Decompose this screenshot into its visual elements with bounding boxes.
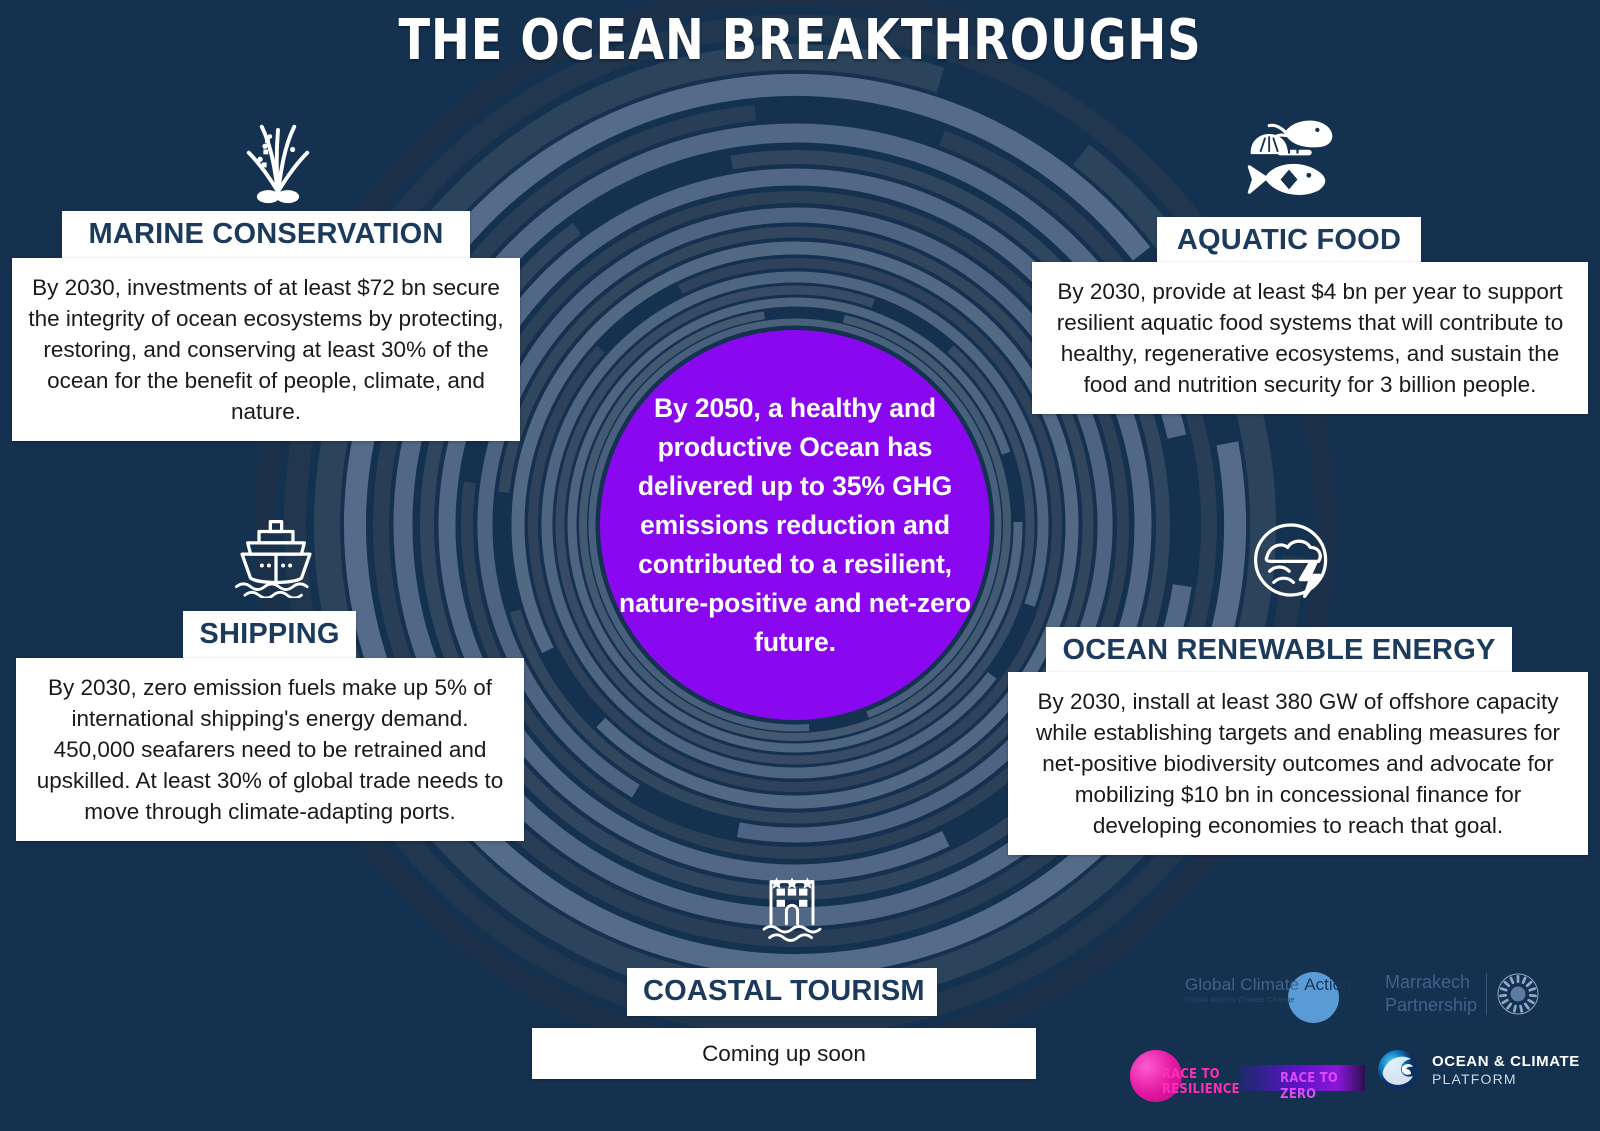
- section-body-aquatic-food: By 2030, provide at least $4 bn per year…: [1032, 262, 1588, 414]
- partner-logos: Global Climate Action Global Actions Cli…: [1130, 965, 1590, 1125]
- logo-marrakech-partnership: Marrakech Partnership: [1385, 971, 1540, 1017]
- center-vision-circle: By 2050, a healthy and productive Ocean …: [600, 330, 990, 720]
- wave-lightning-icon: [1250, 518, 1334, 602]
- r2z-text: RACE TO ZERO: [1280, 1070, 1363, 1102]
- center-vision-text: By 2050, a healthy and productive Ocean …: [615, 389, 975, 662]
- logo-ocean-climate-platform: OCEAN & CLIMATE PLATFORM: [1375, 1047, 1580, 1093]
- section-body-ocean-renewable-energy: By 2030, install at least 380 GW of offs…: [1008, 672, 1588, 855]
- section-label-ocean-renewable-energy: OCEAN RENEWABLE ENERGY: [1046, 627, 1512, 675]
- section-label-aquatic-food: AQUATIC FOOD: [1157, 217, 1421, 265]
- mp-divider: [1486, 973, 1487, 1015]
- ocp-line1: OCEAN & CLIMATE: [1432, 1053, 1580, 1071]
- section-body-shipping: By 2030, zero emission fuels make up 5% …: [16, 658, 524, 841]
- section-label-marine-conservation: MARINE CONSERVATION: [62, 211, 470, 259]
- ocp-line2: PLATFORM: [1432, 1071, 1580, 1088]
- r2r-line2: RESILIENCE: [1162, 1082, 1240, 1097]
- gca-text-main: Global Climate: [1185, 975, 1299, 994]
- fish-shrimp-shell-icon: [1238, 110, 1340, 198]
- logo-global-climate-action: Global Climate Action Global Actions Cli…: [1185, 975, 1352, 1005]
- r2r-line1: RACE TO: [1162, 1067, 1240, 1082]
- mp-line2: Partnership: [1385, 994, 1477, 1017]
- unfccc-sunburst-icon: [1496, 972, 1540, 1016]
- hotel-icon: [750, 862, 834, 946]
- ship-icon: [230, 516, 322, 598]
- seaweed-icon: [226, 104, 330, 208]
- wave-globe-icon: [1375, 1047, 1421, 1093]
- gca-text-sub: Global Actions Climate Change: [1185, 995, 1352, 1005]
- section-label-coastal-tourism: COASTAL TOURISM: [627, 968, 937, 1016]
- page-title: THE OCEAN BREAKTHROUGHS: [64, 8, 1536, 73]
- gca-text-accent: Action: [1304, 975, 1351, 995]
- section-label-shipping: SHIPPING: [183, 611, 356, 659]
- mp-line1: Marrakech: [1385, 971, 1477, 994]
- section-body-coastal-tourism: Coming up soon: [532, 1028, 1036, 1079]
- logo-race-to-resilience: RACE TO RESILIENCE: [1130, 1050, 1245, 1105]
- infographic-canvas: THE OCEAN BREAKTHROUGHS By 2050, a healt…: [0, 0, 1600, 1131]
- logo-race-to-zero: RACE TO ZERO: [1240, 1065, 1365, 1093]
- section-body-marine-conservation: By 2030, investments of at least $72 bn …: [12, 258, 520, 441]
